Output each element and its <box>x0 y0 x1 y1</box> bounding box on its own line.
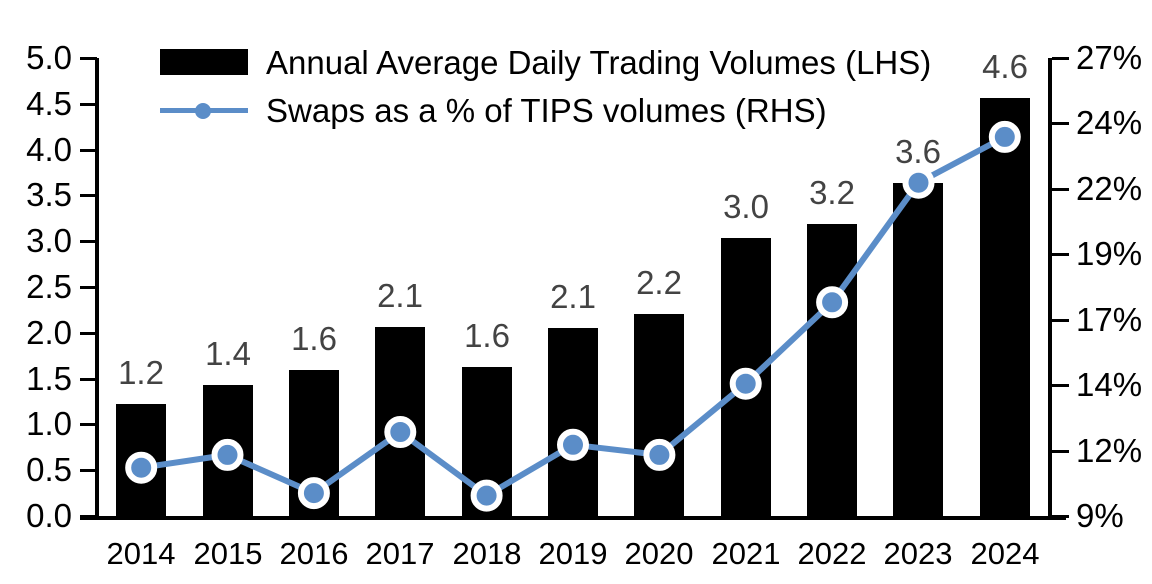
y-tick-label-left: 0.0 <box>0 499 72 532</box>
y-tick-label-right: 19% <box>1076 237 1152 270</box>
bar-value-label: 1.6 <box>417 319 557 352</box>
y-tick-label-right: 17% <box>1076 303 1152 336</box>
legend-line-label: Swaps as a % of TIPS volumes (RHS) <box>266 94 827 127</box>
y-tick-label-left: 2.5 <box>0 270 72 303</box>
y-tick-label-left: 3.0 <box>0 224 72 257</box>
bar-value-label: 4.6 <box>935 50 1075 83</box>
legend-item-bars: Annual Average Daily Trading Volumes (LH… <box>160 38 931 86</box>
legend-line-marker-icon <box>195 103 211 119</box>
y-axis-left <box>95 58 99 520</box>
legend-line-swatch-icon <box>160 97 248 123</box>
y-tick-label-left: 4.5 <box>0 87 72 120</box>
bar-value-label: 2.1 <box>330 279 470 312</box>
y-tick-label-right: 24% <box>1076 106 1152 139</box>
x-tick-label: 2024 <box>935 538 1075 569</box>
bar <box>634 314 684 516</box>
y-tick-label-left: 5.0 <box>0 41 72 74</box>
chart-container: Annual Average Daily Trading Volumes (LH… <box>0 0 1152 584</box>
y-tick-left <box>80 515 97 518</box>
bar <box>289 370 339 516</box>
y-tick-left <box>80 57 97 60</box>
bar <box>893 183 943 516</box>
legend-bar-label: Annual Average Daily Trading Volumes (LH… <box>266 46 931 79</box>
y-tick-label-left: 1.0 <box>0 407 72 440</box>
y-tick-right <box>1052 450 1069 453</box>
y-tick-right <box>1052 188 1069 191</box>
bar <box>375 327 425 516</box>
chart-legend: Annual Average Daily Trading Volumes (LH… <box>160 38 931 134</box>
y-tick-label-right: 9% <box>1076 499 1152 532</box>
y-tick-left <box>80 240 97 243</box>
y-tick-left <box>80 149 97 152</box>
x-axis-baseline <box>80 516 1066 520</box>
y-tick-label-left: 0.5 <box>0 453 72 486</box>
bar-value-label: 3.6 <box>848 135 988 168</box>
bar <box>807 224 857 516</box>
legend-item-line: Swaps as a % of TIPS volumes (RHS) <box>160 86 931 134</box>
y-tick-label-left: 2.0 <box>0 316 72 349</box>
bar <box>548 328 598 516</box>
y-tick-label-right: 12% <box>1076 434 1152 467</box>
y-tick-label-left: 4.0 <box>0 133 72 166</box>
y-tick-label-right: 22% <box>1076 172 1152 205</box>
bar <box>721 238 771 516</box>
bar-value-label: 1.6 <box>244 322 384 355</box>
bar <box>203 385 253 516</box>
y-tick-right <box>1052 515 1069 518</box>
y-tick-right <box>1052 122 1069 125</box>
y-tick-label-right: 27% <box>1076 41 1152 74</box>
bar <box>462 367 512 516</box>
bar <box>980 98 1030 516</box>
y-tick-left <box>80 194 97 197</box>
y-tick-left <box>80 332 97 335</box>
y-tick-label-left: 1.5 <box>0 362 72 395</box>
bar <box>116 404 166 516</box>
legend-bar-swatch-icon <box>160 49 248 75</box>
y-tick-left <box>80 469 97 472</box>
y-tick-left <box>80 286 97 289</box>
y-tick-right <box>1052 384 1069 387</box>
bar-value-label: 3.2 <box>762 176 902 209</box>
y-tick-right <box>1052 319 1069 322</box>
y-tick-left <box>80 103 97 106</box>
y-tick-left <box>80 423 97 426</box>
bar-value-label: 2.2 <box>589 266 729 299</box>
y-tick-label-right: 14% <box>1076 368 1152 401</box>
y-tick-right <box>1052 253 1069 256</box>
y-tick-label-left: 3.5 <box>0 178 72 211</box>
